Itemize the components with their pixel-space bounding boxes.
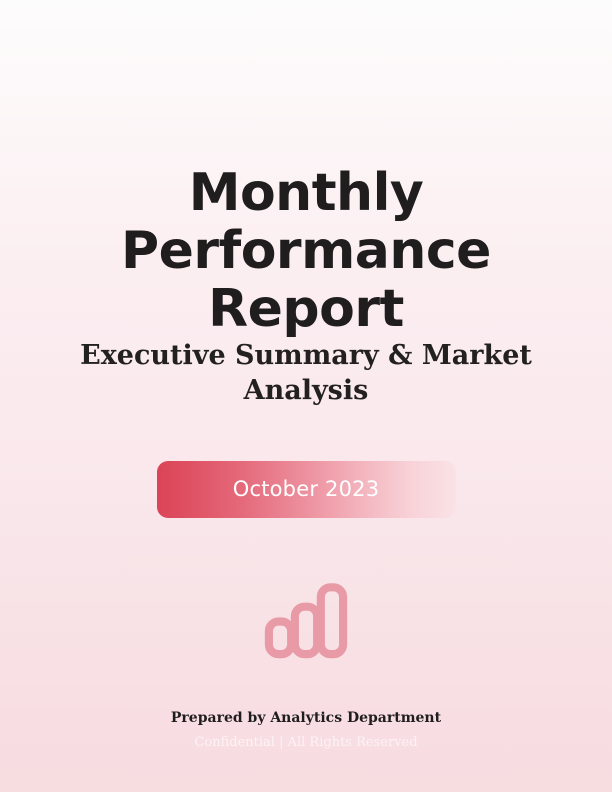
footer-prepared-by: Prepared by Analytics Department: [40, 708, 572, 728]
page-subtitle: Executive Summary & Market Analysis: [80, 338, 532, 408]
subtitle-line-2: Analysis: [80, 373, 532, 408]
title-line-1: Monthly Performance: [46, 164, 566, 280]
cover-content: Monthly Performance Report Executive Sum…: [0, 0, 612, 792]
bar-chart-icon: [260, 578, 352, 662]
date-badge: October 2023: [157, 461, 456, 518]
title-line-2: Report: [46, 280, 566, 338]
date-badge-container: October 2023: [0, 461, 612, 518]
bar-small: [269, 621, 291, 654]
page-title: Monthly Performance Report: [46, 164, 566, 338]
bar-medium: [295, 607, 317, 654]
footer: Prepared by Analytics Department Confide…: [40, 708, 572, 752]
bar-large: [321, 587, 343, 654]
chart-icon-container: [0, 578, 612, 662]
footer-confidential-notice: Confidential | All Rights Reserved: [40, 734, 572, 752]
date-badge-label: October 2023: [233, 479, 380, 500]
subtitle-line-1: Executive Summary & Market: [80, 338, 532, 373]
report-cover-page: Monthly Performance Report Executive Sum…: [0, 0, 612, 792]
